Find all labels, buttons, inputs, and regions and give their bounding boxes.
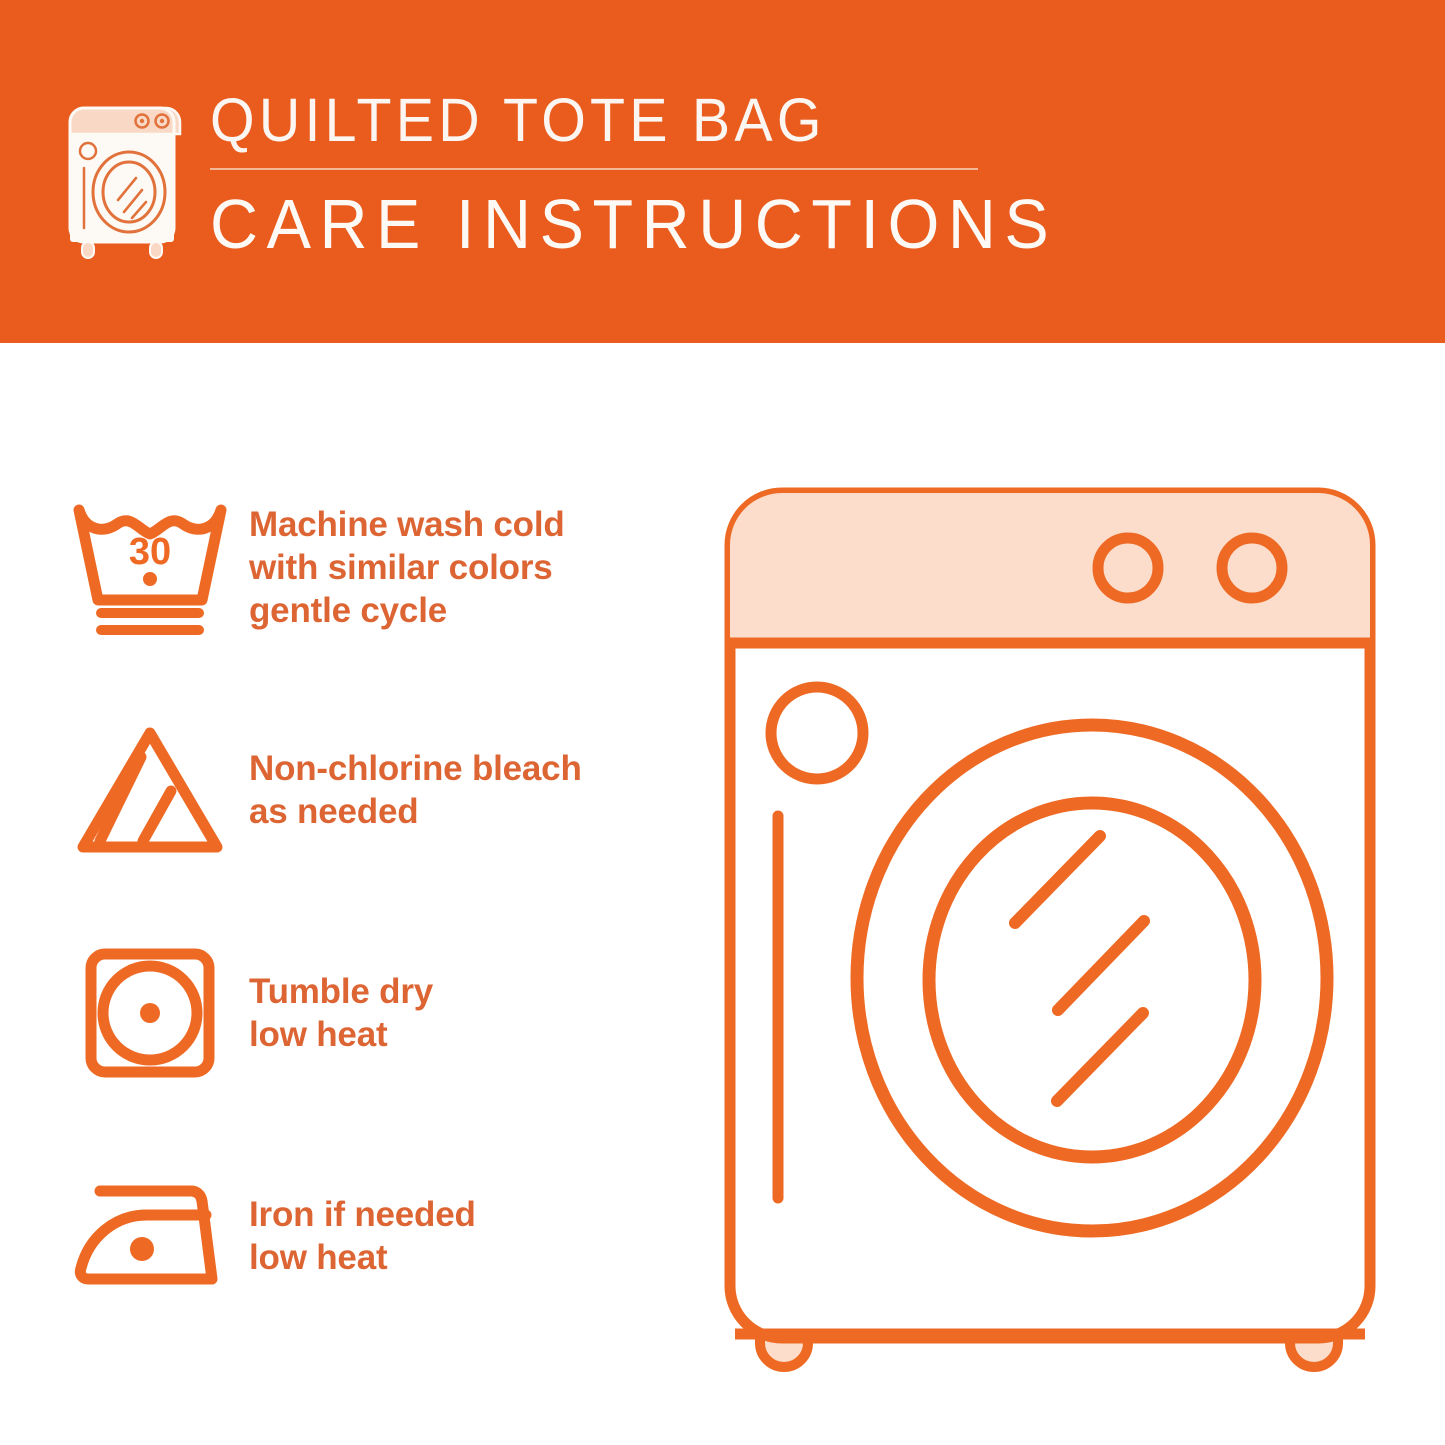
care-label-line: low heat: [249, 1013, 433, 1056]
care-label-line: with similar colors: [249, 546, 565, 589]
list-item: Non-chlorine bleach as needed: [62, 706, 682, 874]
care-label-line: as needed: [249, 790, 582, 833]
care-label-line: Iron if needed: [249, 1193, 476, 1236]
header-titles: QUILTED TOTE BAG CARE INSTRUCTIONS: [210, 88, 1102, 260]
care-instruction-list: 30 Machine wash cold with similar colors…: [62, 483, 682, 1320]
care-label-line: low heat: [249, 1236, 476, 1279]
header-content: QUILTED TOTE BAG CARE INSTRUCTIONS: [62, 88, 1102, 262]
control-panel: [730, 493, 1370, 643]
machine-drum: [857, 725, 1327, 1231]
care-label-line: Non-chlorine bleach: [249, 747, 582, 790]
care-label: Iron if needed low heat: [237, 1193, 476, 1279]
care-label-line: gentle cycle: [249, 589, 565, 632]
tumble-dry-low-symbol: [62, 938, 237, 1088]
content-area: 30 Machine wash cold with similar colors…: [0, 343, 1445, 1445]
care-label: Machine wash cold with similar colors ge…: [237, 503, 565, 632]
title-divider: [210, 168, 978, 170]
care-label-line: Machine wash cold: [249, 503, 565, 546]
wash-temp-label: 30: [128, 531, 170, 573]
washing-machine-icon: [62, 100, 188, 262]
iron-low-heat-symbol: [62, 1161, 237, 1311]
list-item: 30 Machine wash cold with similar colors…: [62, 483, 682, 651]
non-chlorine-bleach-symbol: [62, 715, 237, 865]
page-title: QUILTED TOTE BAG: [210, 88, 1048, 152]
page-subtitle: CARE INSTRUCTIONS: [210, 188, 1057, 260]
list-item: Tumble dry low heat: [62, 929, 682, 1097]
list-item: Iron if needed low heat: [62, 1152, 682, 1320]
care-label: Non-chlorine bleach as needed: [237, 747, 582, 833]
care-label-line: Tumble dry: [249, 970, 433, 1013]
washing-machine-illustration: [700, 468, 1400, 1388]
machine-wash-30-gentle-symbol: 30: [62, 492, 237, 642]
header-banner: QUILTED TOTE BAG CARE INSTRUCTIONS: [0, 0, 1445, 343]
care-label: Tumble dry low heat: [237, 970, 433, 1056]
